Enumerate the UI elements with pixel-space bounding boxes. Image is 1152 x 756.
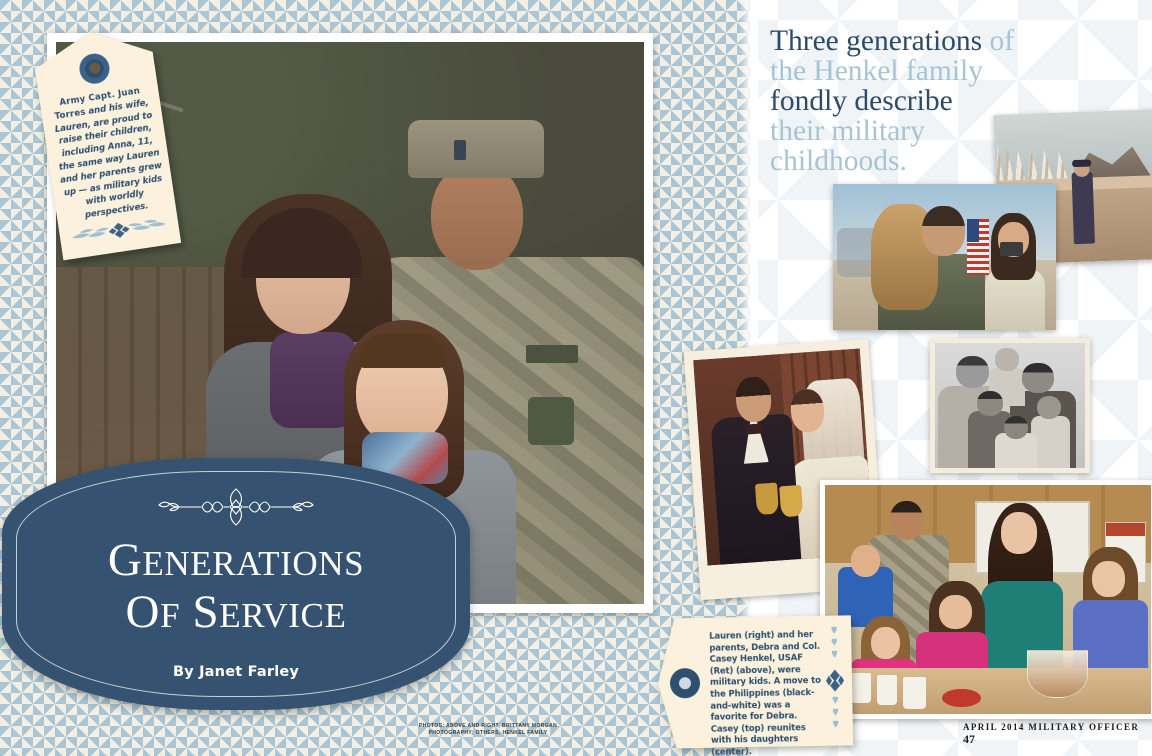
academy-airman-body: [1072, 171, 1096, 244]
kitchen-girl-head: [939, 595, 972, 629]
article-byline: By Janet Farley: [2, 664, 470, 680]
headline-line5: childhoods.: [770, 145, 907, 177]
ornament-flourish-icon: [151, 484, 321, 530]
headline-line1-dark: Three generations: [770, 25, 982, 57]
bw-child-head: [1037, 396, 1061, 420]
kitchen-counter: [825, 668, 1151, 714]
academy-airman-cap: [1072, 160, 1091, 167]
caption-tag-hero-text: Army Capt. Juan Torres and his wife, Lau…: [46, 83, 170, 225]
hero-girl-bangs: [358, 334, 446, 368]
caption-tag-bottom: Lauren (right) and her parents, Debra an…: [657, 615, 853, 748]
photo-credit: PHOTOS: ABOVE AND RIGHT, BRITTANY MORGAN…: [398, 723, 578, 737]
article-title-line1: GENERATIONS: [108, 534, 364, 586]
toast-goblet: [779, 485, 803, 517]
caption-body: (right) and her parents, Debra and Col. …: [709, 630, 821, 756]
bw-child-head: [995, 348, 1019, 371]
photo-kitchen-baking: [820, 480, 1152, 719]
headline-line4: their military: [770, 115, 925, 147]
mug-icon: [903, 677, 926, 709]
vertical-laurel-flourish-icon: [825, 625, 845, 735]
bw-father-head: [956, 356, 989, 389]
bw-child-head: [977, 391, 1003, 416]
american-flag-icon: [967, 219, 989, 274]
photo-credit-line2: PHOTOGRAPHY; OTHERS, HENKEL FAMILY: [398, 730, 578, 737]
mug-icon: [877, 675, 897, 705]
camera-icon: [1000, 242, 1022, 255]
hero-soldier-head: [431, 162, 523, 270]
photo-philippines-family-bw: [930, 338, 1090, 473]
philippines-family-image: [935, 343, 1085, 468]
caption-lead: Lauren: [709, 631, 741, 642]
hero-soldier-cap: [408, 120, 544, 178]
headline-line1-light: of: [982, 25, 1014, 57]
kitchen-baby-head: [851, 545, 880, 577]
photo-reunion-hug: [833, 184, 1056, 330]
footer-publication: MILITARY OFFICER: [1028, 722, 1139, 732]
reunion-serviceman-head: [922, 206, 964, 256]
article-title-line2: OF SERVICE: [2, 588, 470, 640]
kitchen-baking-image: [825, 485, 1151, 714]
kitchen-girl-head: [871, 627, 900, 659]
toast-goblet: [755, 482, 779, 514]
mixing-bowl-icon: [1027, 650, 1088, 698]
reunion-hug-image: [833, 184, 1056, 330]
kitchen-girl-head: [1092, 561, 1125, 598]
headline-line3: fondly describe: [770, 85, 953, 117]
caption-tag-bottom-text: Lauren (right) and her parents, Debra an…: [709, 630, 827, 756]
bw-mother-head: [1022, 363, 1054, 393]
hero-uniform-nametape: [526, 345, 578, 363]
kitchen-mother-head: [1001, 512, 1037, 553]
footer-issue: APRIL 2014: [963, 722, 1025, 732]
footer-page-number: 47: [963, 732, 975, 746]
photo-credit-line1: PHOTOS: ABOVE AND RIGHT, BRITTANY MORGAN: [398, 723, 578, 730]
article-title: GENERATIONS OF SERVICE: [2, 536, 470, 640]
magazine-spread: Army Capt. Juan Torres and his wife, Lau…: [0, 0, 1152, 756]
article-title-badge: GENERATIONS OF SERVICE By Janet Farley: [2, 458, 470, 710]
mug-icon: [851, 673, 871, 703]
page-footer: APRIL 2014 MILITARY OFFICER 47: [963, 722, 1152, 747]
hero-uniform-patch-right: [528, 397, 574, 445]
bow-tie-icon: [745, 423, 764, 435]
kitchen-father-head: [890, 501, 923, 540]
headline-line2: the Henkel family: [770, 55, 983, 87]
bw-child-head: [1004, 416, 1028, 440]
